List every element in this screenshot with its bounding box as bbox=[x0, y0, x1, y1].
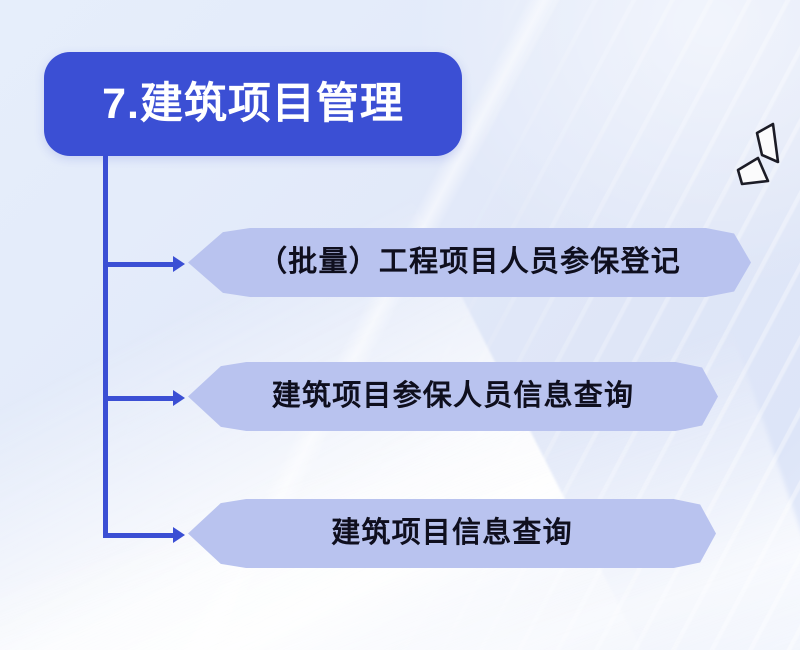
page-title: 7.建筑项目管理 bbox=[102, 83, 404, 126]
menu-item-label: 建筑项目参保人员信息查询 bbox=[272, 382, 634, 411]
arrow-head-icon-1 bbox=[173, 256, 185, 272]
connector-branch-3 bbox=[103, 533, 175, 538]
connector-vertical-trunk bbox=[103, 156, 108, 538]
section-title-chip[interactable]: 7.建筑项目管理 bbox=[44, 52, 462, 156]
connector-branch-2 bbox=[103, 396, 175, 401]
arrow-head-icon-3 bbox=[173, 527, 185, 543]
paper-shards-icon bbox=[735, 122, 797, 188]
menu-item-label: 建筑项目信息查询 bbox=[331, 519, 573, 548]
menu-item-project-insured-personnel-info-query[interactable]: 建筑项目参保人员信息查询 bbox=[188, 362, 718, 431]
menu-item-project-info-query[interactable]: 建筑项目信息查询 bbox=[188, 499, 716, 568]
menu-item-label: （批量）工程项目人员参保登记 bbox=[258, 248, 681, 277]
slide-canvas: 7.建筑项目管理 （批量）工程项目人员参保登记 建筑项目参保人员信息查询 建筑项… bbox=[0, 0, 800, 650]
connector-branch-1 bbox=[103, 262, 175, 267]
menu-item-batch-project-personnel-insurance-registration[interactable]: （批量）工程项目人员参保登记 bbox=[188, 228, 751, 297]
arrow-head-icon-2 bbox=[173, 390, 185, 406]
